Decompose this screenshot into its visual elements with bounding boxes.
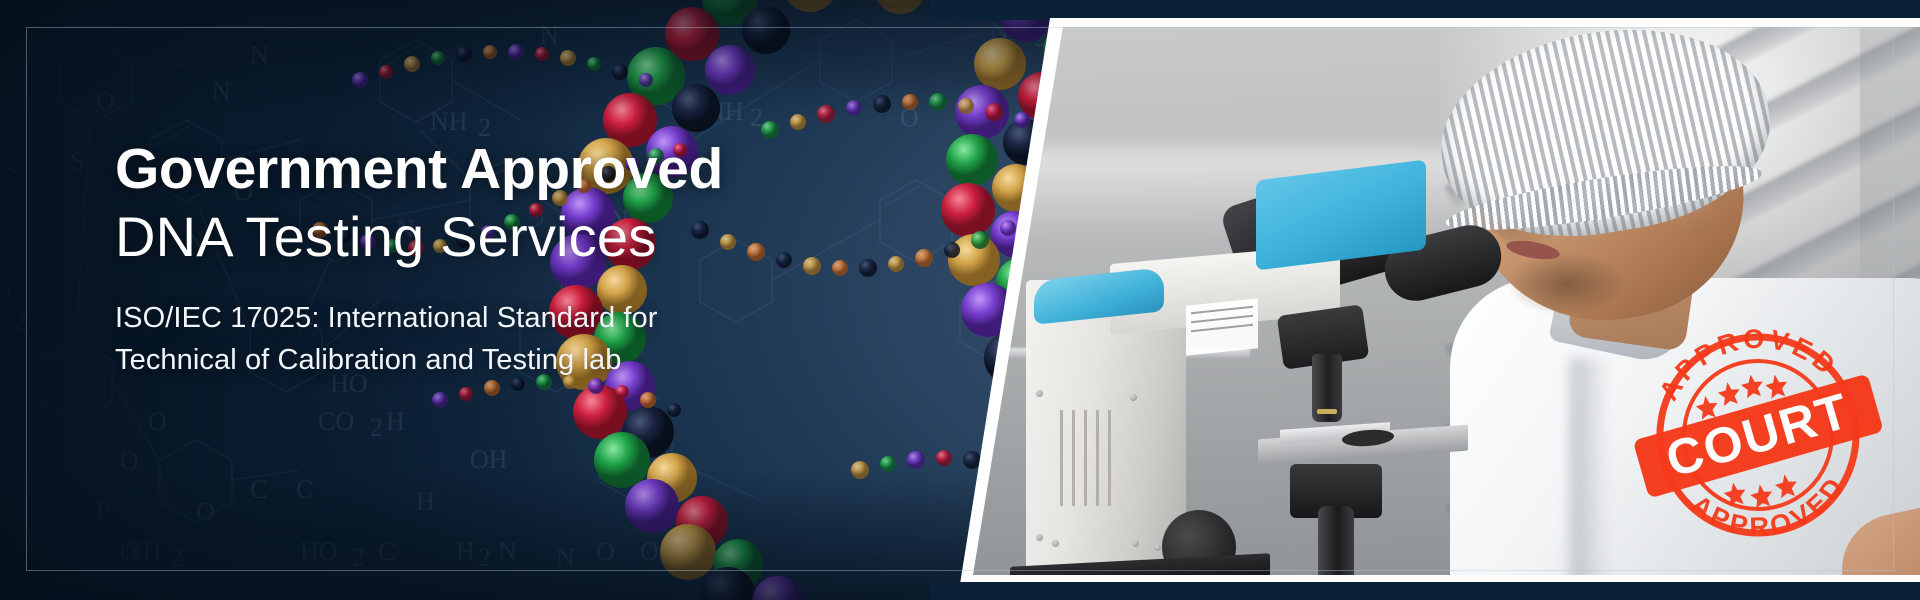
stage-adjust-rod bbox=[1318, 506, 1354, 582]
microscope bbox=[990, 214, 1460, 584]
vent-slots bbox=[1060, 410, 1122, 506]
headline-copy-block: Government Approved DNA Testing Services… bbox=[115, 140, 875, 381]
coat-fold bbox=[1570, 358, 1610, 584]
subtitle-block: ISO/IEC 17025: International Standard fo… bbox=[115, 298, 875, 380]
photo-top-strip bbox=[930, 0, 1920, 20]
hero-banner: S I 2 O P O O O O S NH 2 HO 2 C HO CO 2 … bbox=[0, 0, 1920, 600]
headline-primary: Government Approved bbox=[115, 140, 875, 199]
screw bbox=[1036, 534, 1043, 541]
screw bbox=[1036, 390, 1043, 397]
screw bbox=[1154, 544, 1161, 551]
headline-secondary: DNA Testing Services bbox=[115, 204, 875, 270]
microscope-blue-head bbox=[1256, 160, 1426, 271]
microscope-label bbox=[1186, 298, 1258, 356]
subtitle-line-2: Technical of Calibration and Testing lab bbox=[115, 340, 875, 381]
screw bbox=[1132, 540, 1139, 547]
screw bbox=[1052, 540, 1059, 547]
court-approved-stamp: APPROVED APPROVED COURT bbox=[1614, 303, 1902, 566]
photo-bottom-strip bbox=[930, 582, 1920, 600]
objective-lens bbox=[1312, 354, 1342, 422]
screw bbox=[1130, 394, 1137, 401]
subtitle-line-1: ISO/IEC 17025: International Standard fo… bbox=[115, 298, 875, 339]
